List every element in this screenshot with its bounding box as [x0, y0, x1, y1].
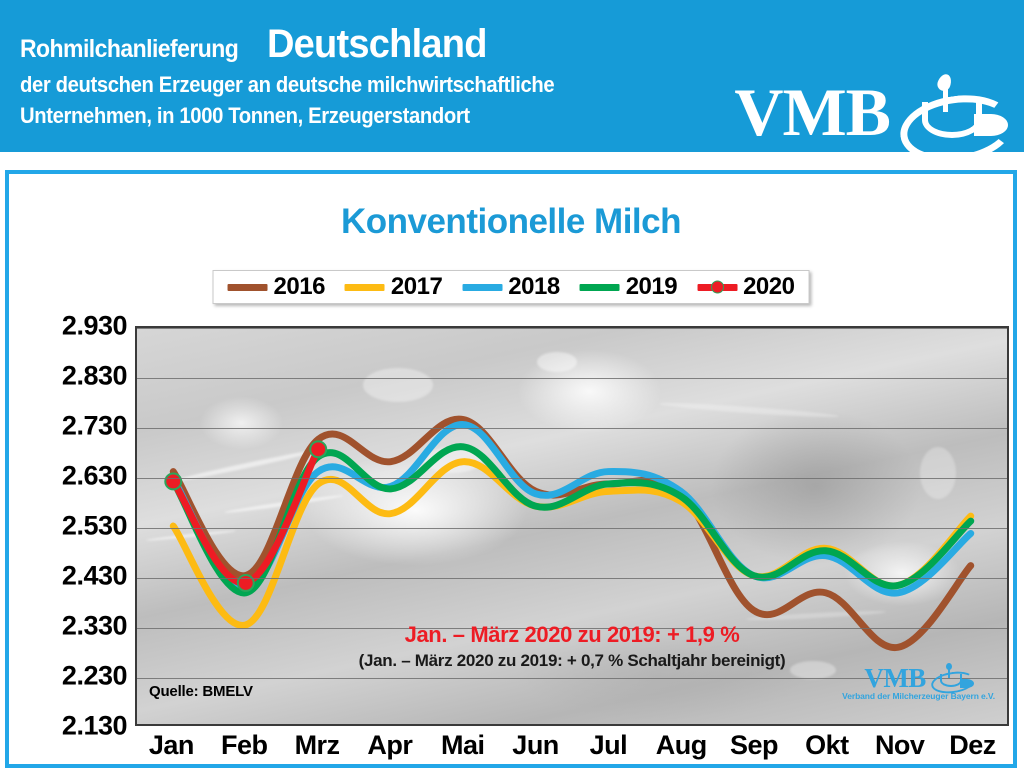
annotation-secondary: (Jan. – März 2020 zu 2019: + 0,7 % Schal…	[359, 651, 786, 671]
y-axis-tick-2130: 2.130	[17, 711, 127, 742]
header-subtitle-line1: der deutschen Erzeuger an deutsche milch…	[20, 72, 719, 98]
plot-area: Jan. – März 2020 zu 2019: + 1,9 % (Jan. …	[135, 326, 1009, 726]
y-axis-labels: 2.9302.8302.7302.6302.5302.4302.3302.230…	[9, 326, 127, 726]
y-axis-tick-2230: 2.230	[17, 661, 127, 692]
series-marker-2020-Mrz	[310, 441, 326, 457]
y-axis-tick-2430: 2.430	[17, 561, 127, 592]
vmb-logo-wordmark: VMB	[734, 84, 890, 142]
gridline-2830	[137, 378, 1007, 379]
vmb-watermark: VMB Verband der Milcherzeuger Bayern e.V…	[842, 666, 995, 701]
source-label: Quelle: BMELV	[149, 683, 253, 700]
annotation-primary: Jan. – März 2020 zu 2019: + 1,9 %	[405, 622, 740, 648]
gridline-2630	[137, 478, 1007, 479]
y-axis-tick-2630: 2.630	[17, 461, 127, 492]
header-text-block: Rohmilchanlieferung Deutschland der deut…	[20, 22, 780, 129]
x-axis-labels: JanFebMrzAprMaiJunJulAugSepOktNovDez	[135, 730, 1009, 770]
legend-item-2016[interactable]: 2016	[228, 273, 325, 301]
x-axis-tick-Sep: Sep	[718, 730, 791, 770]
gridline-2730	[137, 428, 1007, 429]
legend-swatch-2020	[697, 284, 737, 291]
x-axis-tick-Jan: Jan	[135, 730, 208, 770]
x-axis-tick-Feb: Feb	[208, 730, 281, 770]
watermark-subtitle: Verband der Milcherzeuger Bayern e.V.	[842, 691, 995, 701]
vmb-logo: VMB	[734, 74, 1006, 152]
legend-marker-dot	[711, 281, 724, 294]
x-axis-tick-Jul: Jul	[572, 730, 645, 770]
y-axis-tick-2930: 2.930	[17, 311, 127, 342]
legend-swatch-2017	[345, 284, 385, 291]
header-title-big: Deutschland	[267, 22, 487, 67]
header-banner: Rohmilchanlieferung Deutschland der deut…	[0, 0, 1024, 152]
legend-item-2017[interactable]: 2017	[345, 273, 442, 301]
gridline-2530	[137, 528, 1007, 529]
legend-swatch-2016	[228, 284, 268, 291]
legend-label-2020: 2020	[743, 273, 794, 301]
chart-legend: 20162017201820192020	[213, 270, 810, 304]
legend-item-2019[interactable]: 2019	[580, 273, 677, 301]
header-title-row: Rohmilchanlieferung Deutschland	[20, 22, 780, 67]
x-axis-tick-Nov: Nov	[863, 730, 936, 770]
x-axis-tick-Aug: Aug	[645, 730, 718, 770]
x-axis-tick-Okt: Okt	[790, 730, 863, 770]
legend-item-2020[interactable]: 2020	[697, 273, 794, 301]
legend-item-2018[interactable]: 2018	[462, 273, 559, 301]
x-axis-tick-Dez: Dez	[936, 730, 1009, 770]
watermark-wordmark: VMB	[864, 666, 926, 690]
y-axis-tick-2730: 2.730	[17, 411, 127, 442]
legend-label-2019: 2019	[626, 273, 677, 301]
legend-label-2017: 2017	[391, 273, 442, 301]
legend-label-2016: 2016	[274, 273, 325, 301]
x-axis-tick-Jun: Jun	[499, 730, 572, 770]
header-subtitle-line2: Unternehmen, in 1000 Tonnen, Erzeugersta…	[20, 103, 719, 129]
header-title-small: Rohmilchanlieferung	[20, 35, 238, 64]
watermark-droplet-icon	[929, 666, 973, 690]
legend-swatch-2018	[462, 284, 502, 291]
legend-label-2018: 2018	[508, 273, 559, 301]
chart-panel: Konventionelle Milch 2016201720182019202…	[5, 170, 1017, 768]
x-axis-tick-Mai: Mai	[426, 730, 499, 770]
x-axis-tick-Apr: Apr	[353, 730, 426, 770]
legend-swatch-2019	[580, 284, 620, 291]
y-axis-tick-2530: 2.530	[17, 511, 127, 542]
gridline-2430	[137, 578, 1007, 579]
series-marker-2020-Jan	[165, 474, 181, 490]
gridline-2930	[137, 328, 1007, 329]
milk-droplet-icon	[894, 74, 1006, 152]
x-axis-tick-Mrz: Mrz	[281, 730, 354, 770]
y-axis-tick-2830: 2.830	[17, 361, 127, 392]
chart-title: Konventionelle Milch	[9, 202, 1013, 242]
y-axis-tick-2330: 2.330	[17, 611, 127, 642]
